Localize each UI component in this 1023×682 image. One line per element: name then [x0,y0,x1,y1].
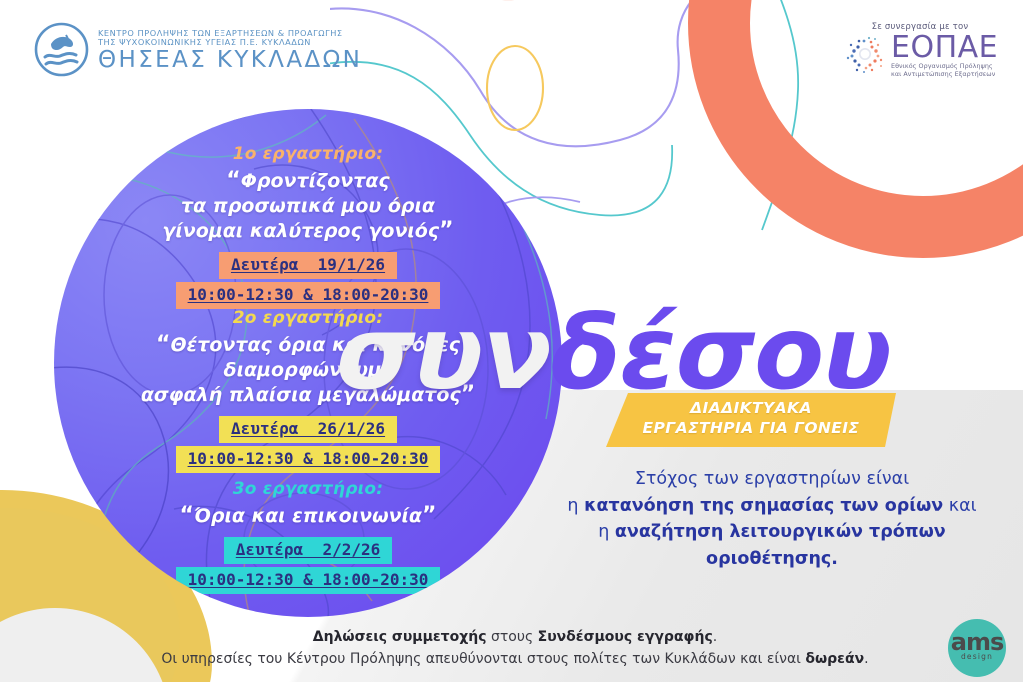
title-part-white: συν [336,294,551,413]
thiseas-logo-name: ΘΗΣΕΑΣ ΚΥΚΛΑΔΩΝ [98,48,362,74]
workshop-1-title-line1: Φροντίζοντας [241,170,390,192]
quote-open-1: “ [226,168,240,193]
eopae-subtitle-line-1: Εθνικός Οργανισμός Πρόληψης [891,62,998,70]
description-line-4: οριοθέτησης. [546,546,998,573]
footer-line-1-mid: στους [487,629,538,645]
footer-line-1: Δηλώσεις συμμετοχής στους Συνδέσμους εγγ… [120,626,910,648]
workshop-1-title-line3: γίνομαι καλύτερος γονιός [162,220,439,242]
thiseas-subtitle-line-2: ΤΗΣ ΨΥΧΟΚΟΙΝΩΝΙΚΗΣ ΥΓΕΙΑΣ Π.Ε. ΚΥΚΛΑΔΩΝ [98,38,362,47]
thiseas-logo-text: ΚΕΝΤΡΟ ΠΡΟΛΗΨΗΣ ΤΩΝ ΕΞΑΡΤΗΣΕΩΝ & ΠΡΟΑΓΩΓ… [98,29,362,74]
description-line-2-post: και [943,496,976,516]
eopae-acronym: ΕΟΠΑΕ [891,34,998,62]
description-line-3-pre: η [598,522,615,542]
workshop-1: 1ο εργαστήριο: “Φροντίζοντας τα προσωπικ… [54,145,562,312]
description-line-4-bold: οριοθέτησης. [706,549,838,569]
footer-line-2-pre: Οι υπηρεσίες του Κέντρου Πρόληψης απευθύ… [161,651,805,667]
description-block: Στόχος των εργαστηρίων είναι η κατανόηση… [546,466,998,572]
eopae-dots-burst-icon [845,34,885,78]
footer-registration-links[interactable]: Συνδέσμους εγγραφής [538,629,713,645]
thiseas-logo[interactable]: ΚΕΝΤΡΟ ΠΡΟΛΗΨΗΣ ΤΩΝ ΕΞΑΡΤΗΣΕΩΝ & ΠΡΟΑΓΩΓ… [34,22,362,81]
footer-free-label: δωρεάν [805,651,864,667]
footer-line-2-end: . [864,651,868,667]
workshop-1-title-line2: τα προσωπικά μου όρια [181,195,435,217]
dolphin-waves-circle-icon [34,22,89,81]
workshop-3-title-line1: Όρια και επικοινωνία [194,505,422,527]
eopae-logo[interactable]: Σε συνεργασία με τον [845,22,995,78]
title-part-purple: δέσου [551,294,891,413]
quote-close-3: ” [422,503,436,528]
workshop-1-title: “Φροντίζοντας τα προσωπικά μου όρια γίνο… [54,168,562,245]
description-line-3: η αναζήτηση λειτουργικών τρόπων [546,519,998,546]
workshop-2-time: 10:00-12:30 & 18:00-20:30 [176,446,441,473]
workshop-3-date: Δευτέρα 2/2/26 [224,537,393,564]
poster-canvas: 1ο εργαστήριο: “Φροντίζοντας τα προσωπικ… [0,0,1023,682]
description-line-1: Στόχος των εργαστηρίων είναι [546,466,998,493]
banner-line-2: ΕΡΓΑΣΤΗΡΙΑ ΓΙΑ ΓΟΝΕΙΣ [606,418,896,438]
footer-line-1-end: . [713,629,717,645]
ams-logo-mark: ams [948,630,1006,654]
page-title: συνδέσου [336,303,891,405]
workshop-3: 3ο εργαστήριο: “Όρια και επικοινωνία” Δε… [54,480,562,597]
workshop-2-date: Δευτέρα 26/1/26 [219,416,397,443]
ams-design-logo[interactable]: ams design [948,619,1006,677]
workshop-3-time: 10:00-12:30 & 18:00-20:30 [176,567,441,594]
eopae-subtitle-line-2: και Αντιμετώπισης Εξαρτήσεων [891,70,998,78]
description-line-2: η κατανόηση της σημασίας των ορίων και [546,493,998,520]
description-line-3-bold: αναζήτηση λειτουργικών τρόπων [615,522,946,542]
footer-line-2: Οι υπηρεσίες του Κέντρου Πρόληψης απευθύ… [120,648,910,670]
workshop-3-title: “Όρια και επικοινωνία” [54,503,562,530]
description-line-2-pre: η [567,496,584,516]
footer-block: Δηλώσεις συμμετοχής στους Συνδέσμους εγγ… [120,626,910,671]
quote-open-3: “ [180,503,194,528]
workshop-1-date: Δευτέρα 19/1/26 [219,252,397,279]
workshop-3-number: 3ο εργαστήριο: [54,480,562,499]
ams-logo-sub: design [948,652,1006,661]
workshop-1-number: 1ο εργαστήριο: [54,145,562,164]
quote-open-2: “ [156,332,170,357]
quote-close-1: ” [439,218,453,243]
description-line-2-bold: κατανόηση της σημασίας των ορίων [584,496,943,516]
footer-registration-label: Δηλώσεις συμμετοχής [313,629,487,645]
